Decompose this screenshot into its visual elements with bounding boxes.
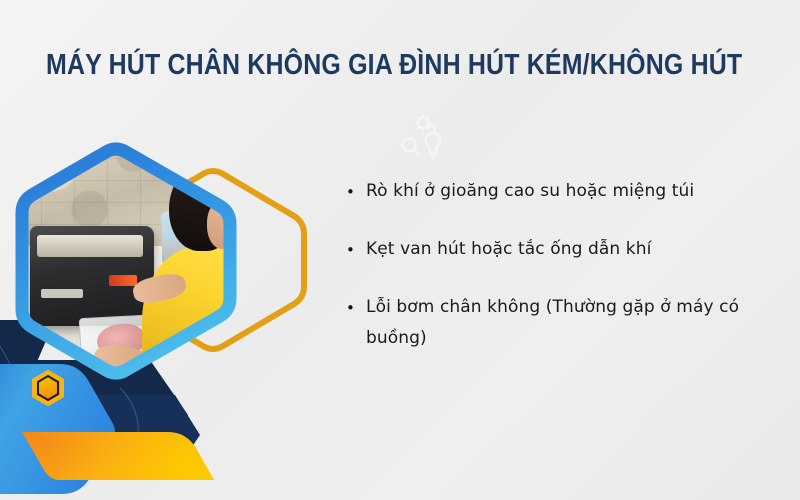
gear-icon: [414, 114, 431, 134]
connector-line: [428, 126, 435, 135]
issue-list: • Rò khí ở gioăng cao su hoặc miệng túi …: [346, 176, 776, 381]
orange-chevron-band: [22, 432, 214, 480]
lightbulb-icon: [426, 133, 441, 159]
magnifier-icon: [402, 138, 419, 155]
bullet-marker-icon: •: [346, 176, 366, 200]
hexagon-photo-cluster: [8, 136, 318, 386]
slide-canvas: MÁY HÚT CHÂN KHÔNG GIA ĐÌNH HÚT KÉM/KHÔN…: [0, 0, 800, 500]
watermark-group: [398, 112, 454, 162]
bullet-marker-icon: •: [346, 292, 366, 316]
list-item: • Kẹt van hút hoặc tắc ống dẫn khí: [346, 234, 776, 265]
page-title: MÁY HÚT CHÂN KHÔNG GIA ĐÌNH HÚT KÉM/KHÔN…: [46, 48, 648, 82]
hexagon-frames: [8, 136, 318, 386]
list-item-label: Kẹt van hút hoặc tắc ống dẫn khí: [366, 234, 776, 265]
navy-block-lower: [30, 395, 200, 472]
bullet-marker-icon: •: [346, 234, 366, 258]
list-item-label: Rò khí ở gioăng cao su hoặc miệng túi: [366, 176, 776, 207]
list-item: • Lỗi bơm chân không (Thường gặp ở máy c…: [346, 292, 776, 354]
list-item-label: Lỗi bơm chân không (Thường gặp ở máy có …: [366, 292, 776, 354]
list-item: • Rò khí ở gioăng cao su hoặc miệng túi: [346, 176, 776, 207]
